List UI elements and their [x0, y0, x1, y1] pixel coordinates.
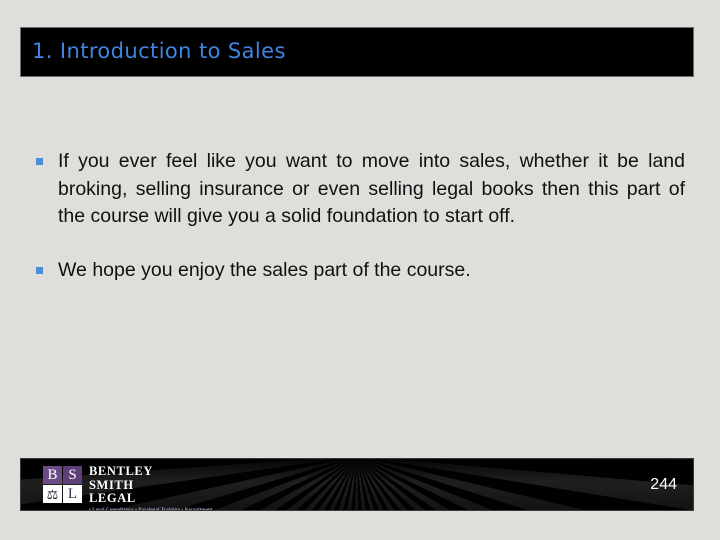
- slide-footer: B S ⚖ L BENTLEY SMITH LEGAL • Legal Cons…: [20, 458, 694, 511]
- logo-tagline: • Legal Consultancy • Paralegal Training…: [89, 507, 213, 512]
- page-number: 244: [650, 475, 677, 495]
- slide-body: If you ever feel like you want to move i…: [30, 148, 685, 284]
- list-item: If you ever feel like you want to move i…: [30, 148, 685, 231]
- slide-canvas: 1. Introduction to Sales If you ever fee…: [0, 0, 720, 540]
- logo-letter-b: B: [43, 466, 62, 484]
- logo-letter-s: S: [63, 466, 82, 484]
- square-bullet-icon: [36, 158, 43, 165]
- company-logo: B S ⚖ L BENTLEY SMITH LEGAL • Legal Cons…: [43, 466, 213, 511]
- bullet-text: If you ever feel like you want to move i…: [58, 148, 685, 231]
- logo-word-legal: LEGAL: [89, 492, 213, 506]
- page-title: 1. Introduction to Sales: [32, 36, 286, 66]
- square-bullet-icon: [36, 267, 43, 274]
- logo-letter-l: L: [63, 485, 82, 503]
- bullet-text: We hope you enjoy the sales part of the …: [58, 257, 685, 285]
- logo-word-smith: SMITH: [89, 479, 213, 493]
- logo-wordmark: BENTLEY SMITH LEGAL • Legal Consultancy …: [89, 465, 213, 511]
- list-item: We hope you enjoy the sales part of the …: [30, 257, 685, 285]
- scales-of-justice-icon: ⚖: [43, 485, 62, 503]
- slide-title-bar: 1. Introduction to Sales: [20, 27, 694, 77]
- logo-word-bentley: BENTLEY: [89, 465, 213, 479]
- logo-monogram: B S ⚖ L: [43, 466, 82, 503]
